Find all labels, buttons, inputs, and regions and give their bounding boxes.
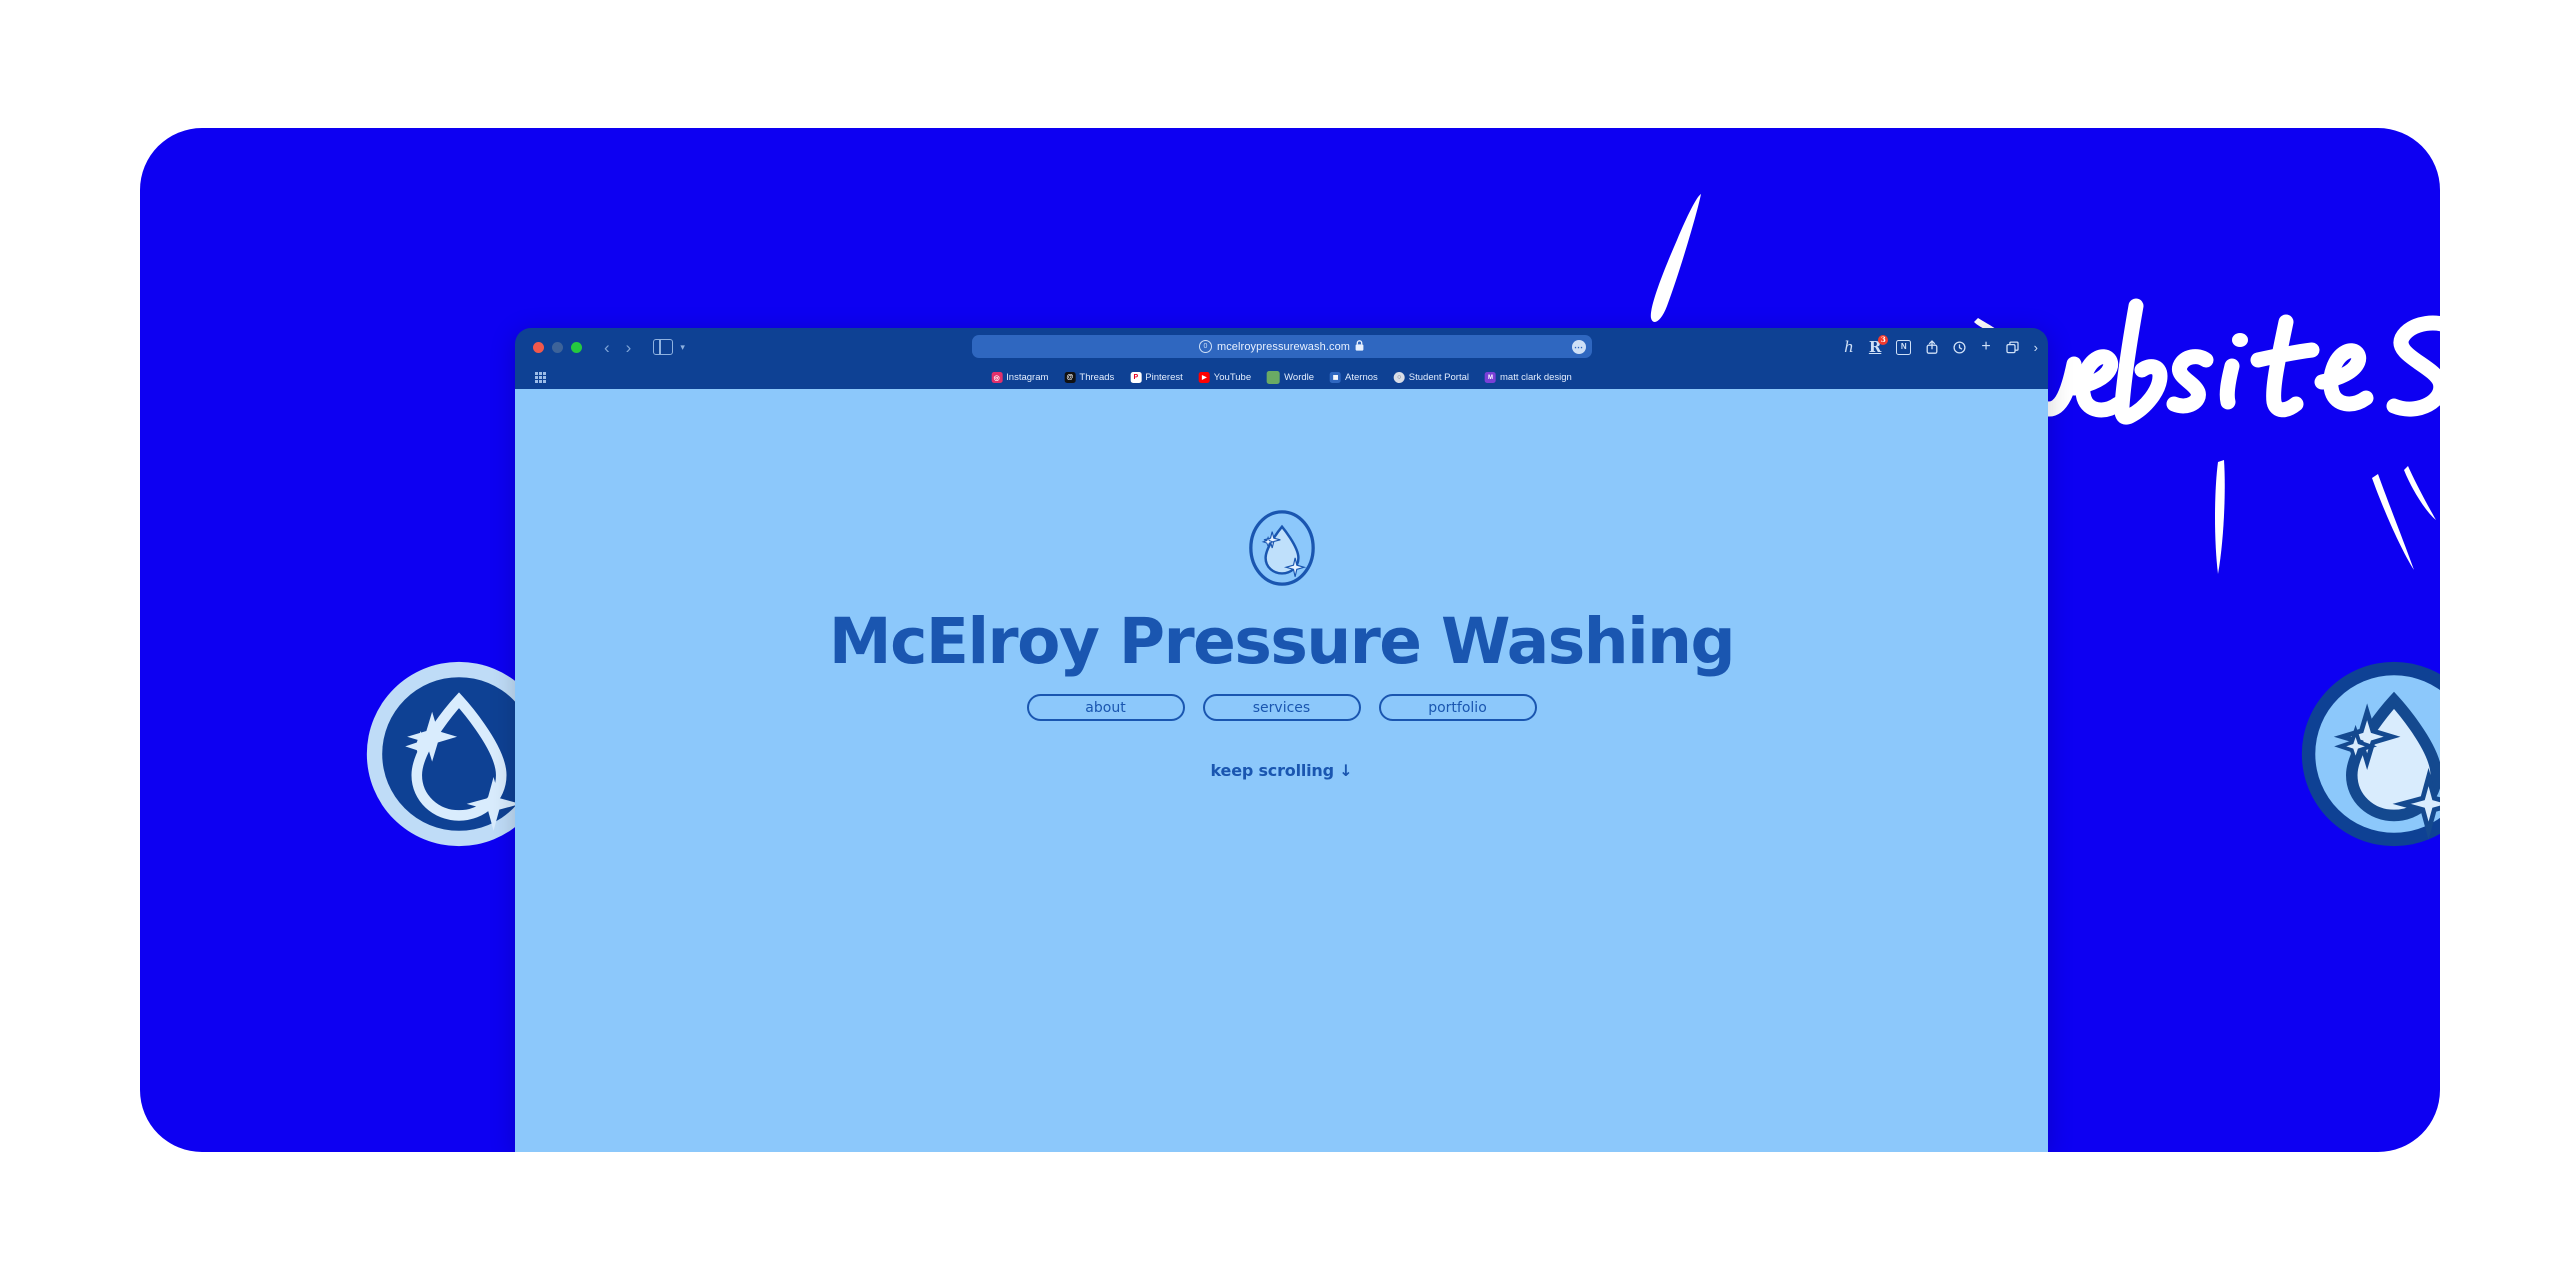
grammarly-extension-icon[interactable]: R3 — [1869, 340, 1881, 355]
bookmark-label: YouTube — [1214, 372, 1251, 383]
bookmarks-grid-icon[interactable] — [535, 372, 546, 383]
address-bar-url[interactable]: mcelroypressurewash.com — [1217, 341, 1350, 353]
browser-window: ‹ › ▾ 0 mcelroypressurewash.com — [515, 328, 2048, 1152]
address-bar-more-button[interactable]: ⋯ — [1572, 340, 1586, 354]
youtube-icon: ▶ — [1199, 372, 1210, 383]
page-viewport: McElroy Pressure Washing about services … — [515, 389, 2048, 1152]
sidebar-toggle-button[interactable]: ▾ — [653, 339, 685, 355]
pen-stroke-overlay — [1645, 188, 1715, 328]
tab-overview-icon[interactable] — [2006, 341, 2019, 354]
minimize-window-button[interactable] — [552, 342, 563, 353]
address-bar[interactable]: 0 mcelroypressurewash.com ⋯ — [972, 335, 1592, 358]
chevron-down-icon[interactable]: ▾ — [680, 342, 685, 353]
bookmark-threads[interactable]: @ Threads — [1064, 372, 1114, 383]
matt-clark-design-icon: M — [1485, 372, 1496, 383]
history-icon[interactable] — [1953, 341, 1966, 354]
maximize-window-button[interactable] — [571, 342, 582, 353]
portfolio-button[interactable]: portfolio — [1379, 694, 1537, 721]
pinterest-icon: P — [1130, 372, 1141, 383]
toolbar-extensions: ℎ R3 N + — [1844, 328, 2038, 366]
window-traffic-lights[interactable] — [533, 342, 582, 353]
bookmark-label: Student Portal — [1409, 372, 1469, 383]
bookmark-aternos[interactable]: ▦ Aternos — [1330, 372, 1378, 383]
bookmark-label: Aternos — [1345, 372, 1378, 383]
about-button[interactable]: about — [1027, 694, 1185, 721]
sparkle-stroke-below-right — [2370, 468, 2430, 588]
back-button[interactable]: ‹ — [604, 339, 610, 356]
privacy-shield-icon[interactable]: 0 — [1199, 340, 1212, 353]
sparkle-stroke-below-left — [2200, 456, 2250, 586]
sparkle-stroke-right-lower — [2400, 458, 2440, 548]
bookmark-label: Wordle — [1284, 372, 1314, 383]
bookmark-matt-clark-design[interactable]: M matt clark design — [1485, 372, 1572, 383]
water-drop-logo — [1241, 507, 1323, 589]
sidebar-icon — [653, 339, 673, 355]
bookmark-label: Pinterest — [1145, 372, 1183, 383]
notion-extension-icon[interactable]: N — [1896, 340, 1911, 355]
close-window-button[interactable] — [533, 342, 544, 353]
bookmark-student-portal[interactable]: ○ Student Portal — [1394, 372, 1469, 383]
honey-extension-icon[interactable]: ℎ — [1844, 340, 1854, 355]
scroll-hint: keep scrolling ↓ — [1211, 761, 1353, 780]
hero-nav-buttons: about services portfolio — [1027, 694, 1537, 721]
share-icon[interactable] — [1926, 340, 1938, 354]
bookmarks-list: ◎ Instagram @ Threads P Pinterest ▶ YouT… — [991, 371, 1572, 384]
forward-button[interactable]: › — [626, 339, 632, 356]
student-portal-icon: ○ — [1394, 372, 1405, 383]
new-tab-icon[interactable]: + — [1981, 339, 1990, 355]
lock-icon — [1355, 338, 1364, 356]
bookmark-label: Instagram — [1006, 372, 1048, 383]
page-title: McElroy Pressure Washing — [829, 611, 1734, 672]
bookmark-label: matt clark design — [1500, 372, 1572, 383]
extension-badge-count: 3 — [1878, 335, 1888, 345]
bookmark-instagram[interactable]: ◎ Instagram — [991, 372, 1048, 383]
aternos-icon: ▦ — [1330, 372, 1341, 383]
more-tabs-icon[interactable]: › — [2034, 341, 2038, 354]
poster-panel: ‹ › ▾ 0 mcelroypressurewash.com — [140, 128, 2440, 1152]
bookmark-youtube[interactable]: ▶ YouTube — [1199, 372, 1251, 383]
bookmark-pinterest[interactable]: P Pinterest — [1130, 372, 1183, 383]
instagram-icon: ◎ — [991, 372, 1002, 383]
threads-icon: @ — [1064, 372, 1075, 383]
wordle-icon — [1267, 371, 1280, 384]
address-bar-container[interactable]: 0 mcelroypressurewash.com ⋯ — [972, 335, 1592, 358]
browser-toolbar: ‹ › ▾ 0 mcelroypressurewash.com — [515, 328, 2048, 366]
bookmark-label: Threads — [1079, 372, 1114, 383]
water-drop-logo-badge-right — [2298, 658, 2440, 850]
bookmarks-bar: ◎ Instagram @ Threads P Pinterest ▶ YouT… — [515, 366, 2048, 389]
services-button[interactable]: services — [1203, 694, 1361, 721]
bookmark-wordle[interactable]: Wordle — [1267, 371, 1314, 384]
